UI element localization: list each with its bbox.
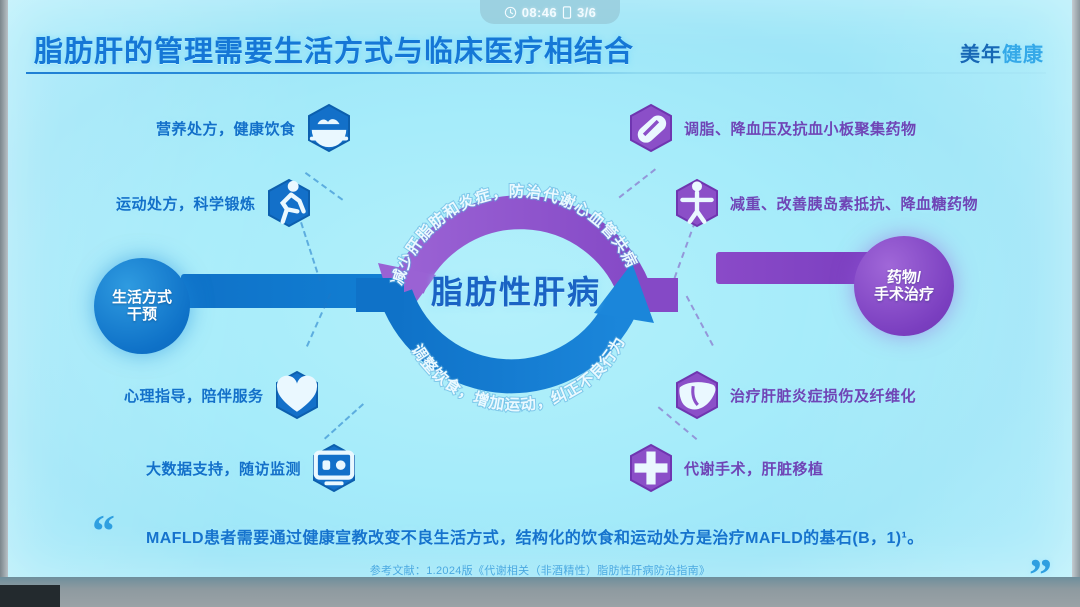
screenshot-stage: 08:46 3/6 脂肪肝的管理需要生活方式与临床医疗相结合 美年健康 生活方式… (0, 0, 1080, 607)
title-divider (26, 72, 1046, 74)
status-bar: 08:46 3/6 (480, 0, 620, 24)
feature-psychology[interactable]: 心理指导，陪伴服务 (124, 370, 320, 420)
medical-cross-icon (628, 443, 674, 493)
presentation-screen: 08:46 3/6 脂肪肝的管理需要生活方式与临床医疗相结合 美年健康 生活方式… (6, 0, 1074, 580)
cycle-diagram: 减少肝脂肪和炎症，防治代谢心血管共病 调整饮食，增加运动，纠正不良行为 脂肪性肝… (336, 145, 696, 435)
liver-glyph (674, 370, 720, 420)
page-icon (562, 6, 572, 19)
feature-weight-glucose-drugs[interactable]: 减重、改善胰岛素抵抗、降血糖药物 (674, 178, 978, 228)
desk-dark-corner (0, 585, 60, 607)
hub-drug-surgery-treatment[interactable]: 药物/ 手术治疗 (854, 236, 954, 336)
running-person-glyph (266, 178, 312, 228)
reference-text: 参考文献：1.2024版《代谢相关（非酒精性）脂肪性肝病防治指南》 (6, 562, 1074, 578)
clock-icon (504, 6, 517, 19)
pill-capsule-icon (628, 103, 674, 153)
feature-exercise[interactable]: 运动处方，科学锻炼 (116, 178, 312, 228)
feature-nutrition[interactable]: 营养处方，健康饮食 (156, 103, 352, 153)
pill-capsule-glyph (628, 103, 674, 153)
running-person-icon (266, 178, 312, 228)
feature-nutrition-label: 营养处方，健康饮食 (156, 118, 296, 139)
quote-open-mark: “ (92, 508, 115, 554)
heart-icon (274, 370, 320, 420)
hub-treatment-line2: 手术治疗 (874, 286, 934, 303)
feature-psychology-label: 心理指导，陪伴服务 (124, 385, 264, 406)
brand-logo: 美年健康 (960, 38, 1044, 67)
liver-icon (674, 370, 720, 420)
feature-liver-inflammation-label: 治疗肝脏炎症损伤及纤维化 (730, 385, 916, 406)
page-title: 脂肪肝的管理需要生活方式与临床医疗相结合 (34, 28, 634, 70)
logo-secondary: 健康 (1002, 44, 1044, 66)
desk-surface (0, 577, 1080, 607)
screen-bezel-left (0, 0, 8, 580)
feature-bigdata[interactable]: 大数据支持，随访监测 (146, 443, 357, 493)
feature-exercise-label: 运动处方，科学锻炼 (116, 193, 256, 214)
weight-scale-glyph (674, 178, 720, 228)
dash-connector-2 (300, 222, 321, 282)
feature-lipid-bp-drugs[interactable]: 调脂、降血压及抗血小板聚集药物 (628, 103, 917, 153)
logo-primary: 美年 (960, 44, 1002, 66)
heart-glyph (274, 370, 320, 420)
monitor-data-glyph (311, 443, 357, 493)
feature-weight-glucose-drugs-label: 减重、改善胰岛素抵抗、降血糖药物 (730, 193, 978, 214)
page-indicator: 3/6 (577, 5, 596, 20)
monitor-data-icon (311, 443, 357, 493)
screen-bezel-right (1072, 0, 1080, 580)
meal-bowl-glyph (306, 103, 352, 153)
hub-lifestyle-intervention[interactable]: 生活方式 干预 (94, 258, 190, 354)
hub-lifestyle-line1: 生活方式 (112, 289, 172, 306)
feature-bigdata-label: 大数据支持，随访监测 (146, 458, 301, 479)
hub-lifestyle-line2: 干预 (127, 306, 157, 323)
feature-liver-inflammation[interactable]: 治疗肝脏炎症损伤及纤维化 (674, 370, 916, 420)
medication-connector-bar (716, 252, 876, 284)
meal-bowl-icon (306, 103, 352, 153)
feature-metabolic-surgery-label: 代谢手术，肝脏移植 (684, 458, 824, 479)
hub-treatment-line1: 药物/ (887, 269, 921, 286)
medical-cross-glyph (628, 443, 674, 493)
quote-text: MAFLD患者需要通过健康宣教改变不良生活方式，结构化的饮食和运动处方是治疗MA… (146, 524, 996, 548)
weight-scale-icon (674, 178, 720, 228)
feature-metabolic-surgery[interactable]: 代谢手术，肝脏移植 (628, 443, 824, 493)
status-time: 08:46 (522, 5, 557, 20)
feature-lipid-bp-drugs-label: 调脂、降血压及抗血小板聚集药物 (684, 118, 917, 139)
